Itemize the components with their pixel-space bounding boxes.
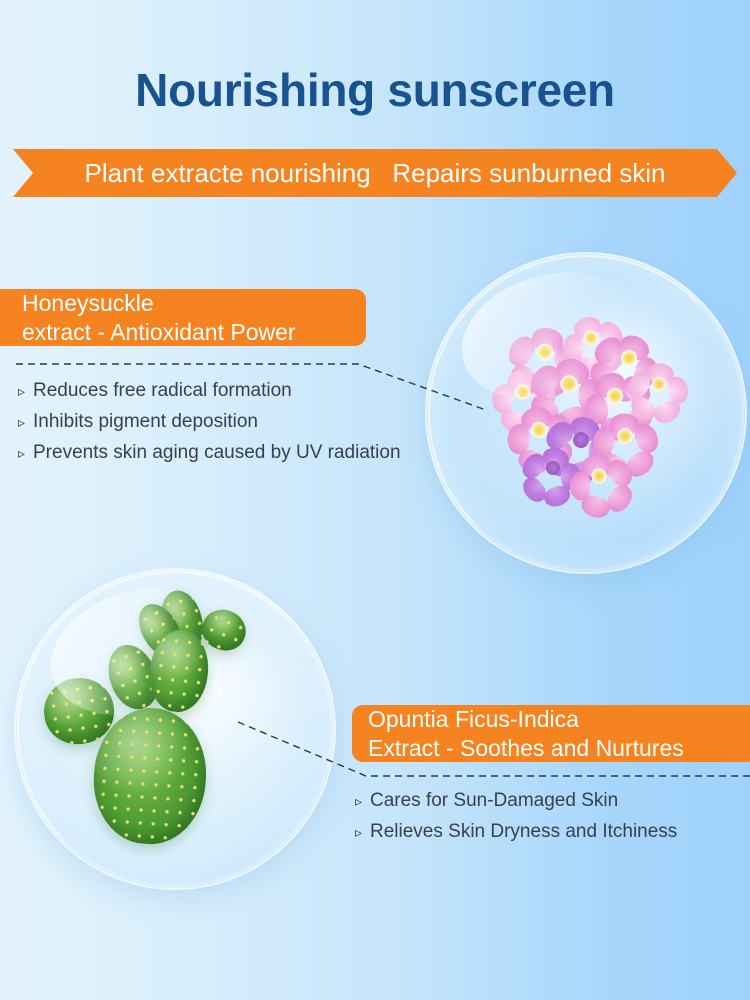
badge-honeysuckle-line2: extract - Antioxidant Power — [22, 318, 350, 347]
list-item: ▹ Inhibits pigment deposition — [18, 409, 401, 435]
badge-opuntia-line2: Extract - Soothes and Nurtures — [368, 734, 730, 763]
triangle-bullet-icon: ▹ — [18, 378, 33, 404]
bullet-list-opuntia: ▹ Cares for Sun-Damaged Skin ▹ Relieves … — [355, 788, 677, 850]
opuntia-cactus-pads — [14, 568, 336, 890]
honeysuckle-flowers — [425, 252, 747, 574]
list-item: ▹ Reduces free radical formation — [18, 378, 401, 404]
list-item: ▹ Prevents skin aging caused by UV radia… — [18, 440, 401, 466]
list-item: ▹ Relieves Skin Dryness and Itchiness — [355, 819, 677, 845]
page-title: Nourishing sunscreen — [0, 63, 750, 117]
list-item-label: Inhibits pigment deposition — [33, 409, 258, 435]
triangle-bullet-icon: ▹ — [355, 819, 370, 845]
petri-dish-opuntia — [14, 568, 336, 890]
badge-opuntia-line1: Opuntia Ficus-Indica — [368, 705, 730, 734]
list-item-label: Relieves Skin Dryness and Itchiness — [370, 819, 677, 845]
list-item-label: Prevents skin aging caused by UV radiati… — [33, 440, 401, 466]
product-infographic: Nourishing sunscreen Plant extracte nour… — [0, 0, 750, 1000]
triangle-bullet-icon: ▹ — [355, 788, 370, 814]
tagline-text: Plant extracte nourishing Repairs sunbur… — [85, 158, 666, 189]
bullet-list-honeysuckle: ▹ Reduces free radical formation ▹ Inhib… — [18, 378, 401, 471]
badge-honeysuckle: Honeysuckle extract - Antioxidant Power — [0, 289, 366, 346]
list-item-label: Cares for Sun-Damaged Skin — [370, 788, 618, 814]
triangle-bullet-icon: ▹ — [18, 409, 33, 435]
petri-dish-honeysuckle — [425, 252, 747, 574]
list-item: ▹ Cares for Sun-Damaged Skin — [355, 788, 677, 814]
badge-honeysuckle-line1: Honeysuckle — [22, 289, 350, 318]
tagline-ribbon: Plant extracte nourishing Repairs sunbur… — [13, 149, 737, 197]
flower — [631, 356, 688, 413]
badge-opuntia: Opuntia Ficus-Indica Extract - Soothes a… — [352, 705, 750, 762]
triangle-bullet-icon: ▹ — [18, 440, 33, 466]
list-item-label: Reduces free radical formation — [33, 378, 292, 404]
